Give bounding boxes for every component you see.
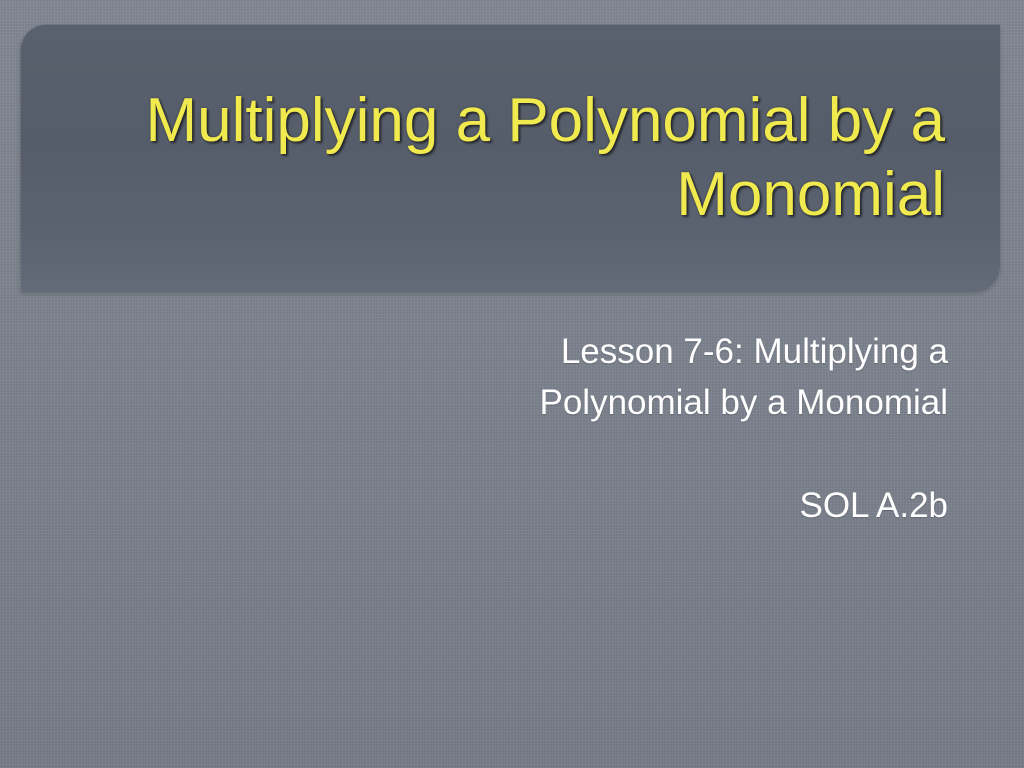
body-spacer: [200, 428, 948, 480]
title-placeholder-box: Multiplying a Polynomial by a Monomial: [20, 24, 1000, 292]
body-line-3: SOL A.2b: [200, 480, 948, 531]
body-line-2: Polynomial by a Monomial: [200, 377, 948, 428]
body-line-1: Lesson 7-6: Multiplying a: [200, 326, 948, 377]
page-title: Multiplying a Polynomial by a Monomial: [60, 84, 945, 232]
body-text-placeholder: Lesson 7-6: Multiplying a Polynomial by …: [200, 326, 948, 531]
slide-canvas: Multiplying a Polynomial by a Monomial L…: [0, 0, 1024, 768]
